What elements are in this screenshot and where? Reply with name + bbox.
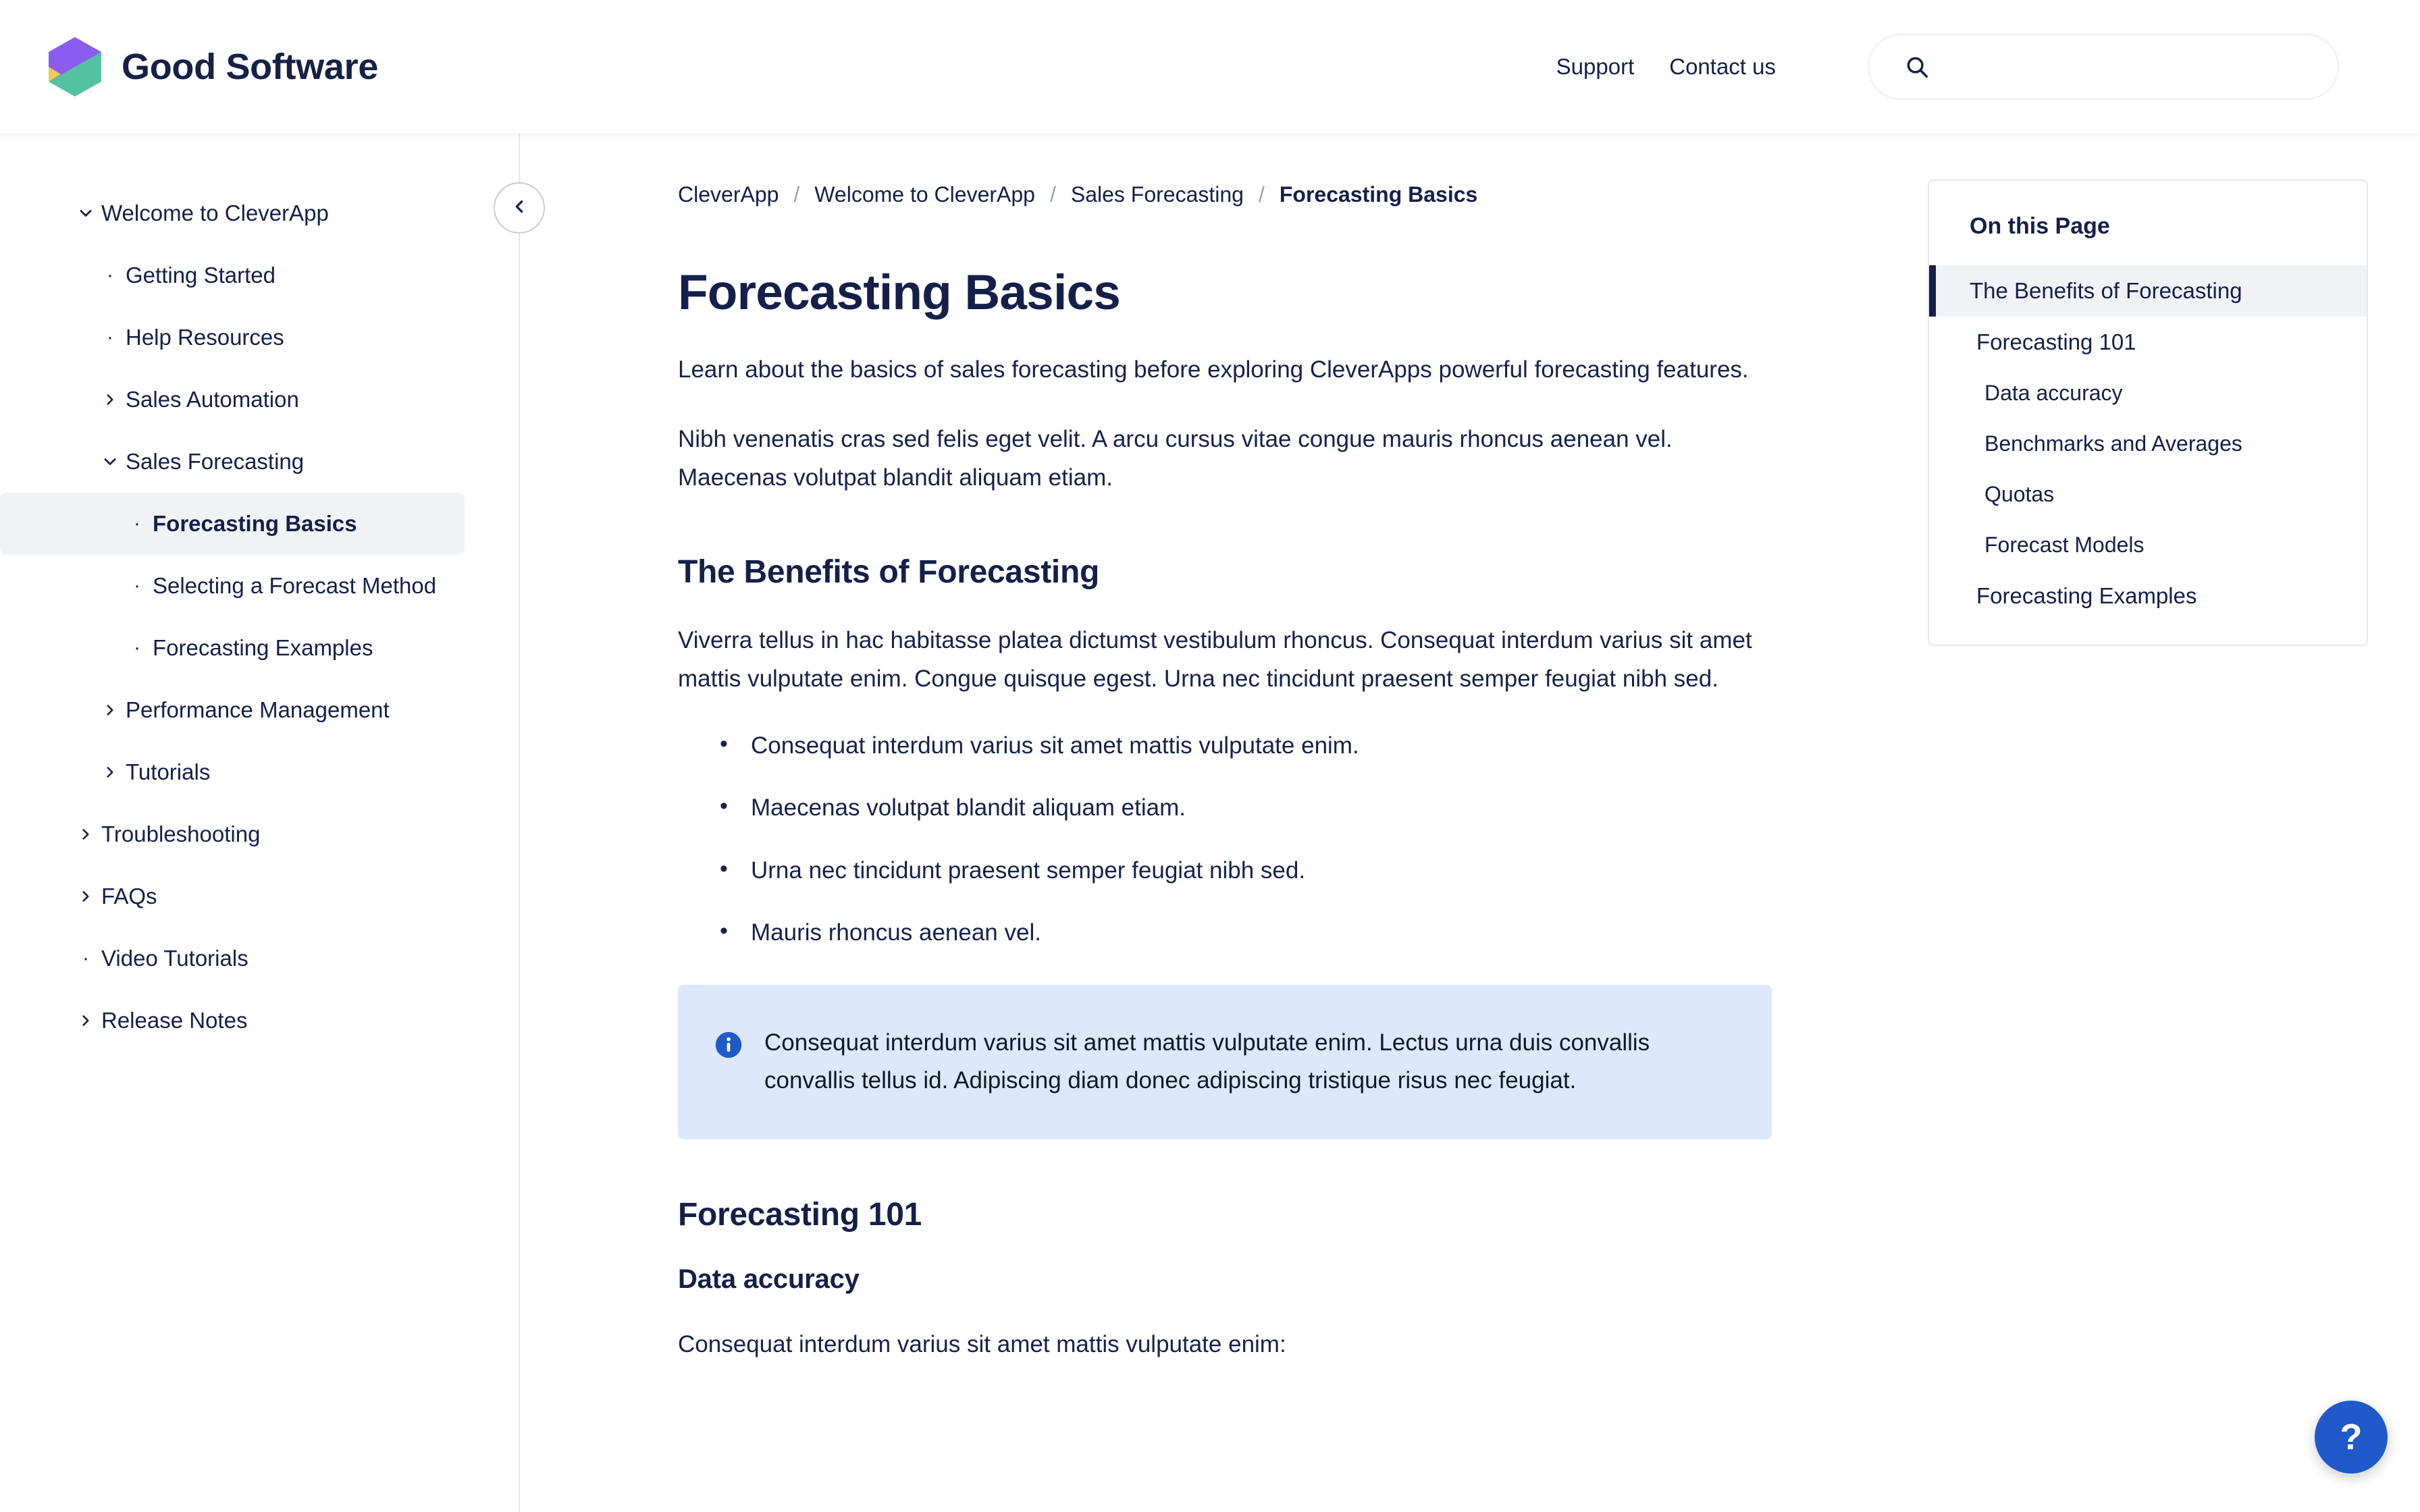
info-callout: Consequat interdum varius sit amet matti… — [678, 985, 1772, 1139]
toc-item-forecast-models[interactable]: Forecast Models — [1929, 520, 2367, 570]
info-icon — [713, 1029, 744, 1060]
sidebar-item-label: Tutorials — [126, 759, 210, 785]
bullet-dot-icon: · — [95, 265, 126, 286]
sidebar-item-label: Performance Management — [126, 697, 390, 723]
sidebar-item-welcome-to-cleverapp[interactable]: Welcome to CleverApp — [0, 182, 465, 244]
chevron-right-icon — [70, 888, 101, 905]
sidebar-item-video-tutorials[interactable]: · Video Tutorials — [0, 927, 465, 990]
toc-item-forecasting-examples[interactable]: Forecasting Examples — [1929, 570, 2367, 622]
hexagon-logo-icon — [49, 37, 101, 97]
breadcrumb-item-welcome-to-cleverapp[interactable]: Welcome to CleverApp — [814, 182, 1035, 207]
sidebar-item-label: FAQs — [101, 884, 157, 909]
toc-item-quotas[interactable]: Quotas — [1929, 469, 2367, 520]
sidebar-item-forecasting-basics[interactable]: · Forecasting Basics — [0, 493, 465, 555]
bullet-dot-icon: · — [122, 514, 153, 534]
sidebar-item-label: Getting Started — [126, 263, 275, 288]
intro-paragraph: Learn about the basics of sales forecast… — [678, 351, 1777, 389]
breadcrumb-separator: / — [1050, 182, 1056, 207]
sidebar-item-tutorials[interactable]: Tutorials — [0, 741, 465, 803]
sidebar-collapse-button[interactable] — [494, 182, 545, 234]
search-icon — [1904, 54, 1930, 80]
page-title: Forecasting Basics — [678, 266, 1897, 320]
sidebar-item-performance-management[interactable]: Performance Management — [0, 679, 465, 741]
benefits-paragraph: Viverra tellus in hac habitasse platea d… — [678, 622, 1777, 698]
sidebar-item-selecting-a-forecast-method[interactable]: · Selecting a Forecast Method — [0, 555, 465, 617]
bullet-dot-icon: · — [122, 638, 153, 658]
chevron-down-icon — [70, 204, 101, 223]
list-item: Consequat interdum varius sit amet matti… — [720, 728, 1897, 764]
brand-logo[interactable]: Good Software — [49, 37, 378, 97]
breadcrumb-item-cleverapp[interactable]: CleverApp — [678, 182, 779, 207]
sidebar-item-label: Forecasting Basics — [153, 511, 357, 537]
bullet-dot-icon: · — [95, 327, 126, 348]
sidebar-item-label: Welcome to CleverApp — [101, 200, 329, 226]
section-heading-benefits: The Benefits of Forecasting — [678, 553, 1897, 591]
sidebar-item-label: Sales Automation — [126, 387, 299, 412]
sidebar-item-forecasting-examples[interactable]: · Forecasting Examples — [0, 617, 465, 679]
sidebar-item-sales-forecasting[interactable]: Sales Forecasting — [0, 431, 465, 493]
main-content: CleverApp / Welcome to CleverApp / Sales… — [520, 134, 1897, 1512]
breadcrumb-separator: / — [793, 182, 799, 207]
chevron-right-icon — [70, 1012, 101, 1029]
breadcrumb-separator: / — [1259, 182, 1265, 207]
breadcrumb-item-current: Forecasting Basics — [1280, 182, 1477, 207]
toc-item-forecasting-101[interactable]: Forecasting 101 — [1929, 317, 2367, 368]
chevron-down-icon — [95, 452, 126, 471]
chevron-right-icon — [70, 826, 101, 843]
sidebar-item-getting-started[interactable]: · Getting Started — [0, 244, 465, 306]
brand-name: Good Software — [122, 46, 378, 88]
header-nav: Support Contact us — [1539, 34, 2339, 100]
sidebar-item-label: Sales Forecasting — [126, 449, 304, 475]
sidebar-item-label: Troubleshooting — [101, 821, 260, 847]
sidebar-item-label: Selecting a Forecast Method — [153, 573, 436, 599]
sidebar-item-label: Release Notes — [101, 1008, 247, 1033]
sidebar-item-release-notes[interactable]: Release Notes — [0, 990, 465, 1052]
sidebar-item-sales-automation[interactable]: Sales Automation — [0, 369, 465, 431]
page-body: Welcome to CleverApp · Getting Started ·… — [0, 134, 2420, 1512]
sidebar-item-label: Video Tutorials — [101, 946, 248, 971]
sidebar-item-label: Forecasting Examples — [153, 635, 373, 661]
sidebar-nav: Welcome to CleverApp · Getting Started ·… — [0, 134, 519, 1512]
toc-item-the-benefits-of-forecasting[interactable]: The Benefits of Forecasting — [1929, 265, 2367, 317]
chevron-right-icon — [95, 763, 126, 781]
chevron-right-icon — [95, 701, 126, 719]
data-accuracy-paragraph: Consequat interdum varius sit amet matti… — [678, 1326, 1777, 1364]
nav-link-contact-us[interactable]: Contact us — [1652, 54, 1793, 80]
bullet-dot-icon: · — [70, 948, 101, 969]
list-item: Maecenas volutpat blandit aliquam etiam. — [720, 790, 1897, 826]
second-paragraph: Nibh venenatis cras sed felis eget velit… — [678, 421, 1777, 497]
list-item: Mauris rhoncus aenean vel. — [720, 915, 1897, 951]
breadcrumb: CleverApp / Welcome to CleverApp / Sales… — [678, 180, 1897, 209]
callout-text: Consequat interdum varius sit amet matti… — [764, 1024, 1734, 1100]
sidebar-item-troubleshooting[interactable]: Troubleshooting — [0, 803, 465, 865]
section-heading-forecasting-101: Forecasting 101 — [678, 1196, 1897, 1233]
list-item: Urna nec tincidunt praesent semper feugi… — [720, 853, 1897, 889]
sidebar-item-label: Help Resources — [126, 325, 284, 350]
on-this-page-panel: On this Page The Benefits of Forecasting… — [1928, 180, 2368, 646]
search-input[interactable] — [1945, 55, 2296, 80]
toc-item-benchmarks-and-averages[interactable]: Benchmarks and Averages — [1929, 418, 2367, 469]
help-button[interactable]: ? — [2315, 1401, 2388, 1474]
bullet-dot-icon: · — [122, 576, 153, 596]
sidebar-item-faqs[interactable]: FAQs — [0, 865, 465, 927]
nav-link-support[interactable]: Support — [1539, 54, 1652, 80]
toc-title: On this Page — [1929, 181, 2367, 265]
site-header: Good Software Support Contact us — [0, 0, 2420, 134]
benefits-bullet-list: Consequat interdum varius sit amet matti… — [678, 728, 1897, 951]
sidebar-item-help-resources[interactable]: · Help Resources — [0, 306, 465, 369]
toc-item-data-accuracy[interactable]: Data accuracy — [1929, 368, 2367, 418]
breadcrumb-item-sales-forecasting[interactable]: Sales Forecasting — [1071, 182, 1244, 207]
chevron-left-icon — [509, 196, 529, 220]
search-box[interactable] — [1868, 34, 2339, 100]
chevron-right-icon — [95, 391, 126, 408]
subsection-heading-data-accuracy: Data accuracy — [678, 1264, 1897, 1295]
